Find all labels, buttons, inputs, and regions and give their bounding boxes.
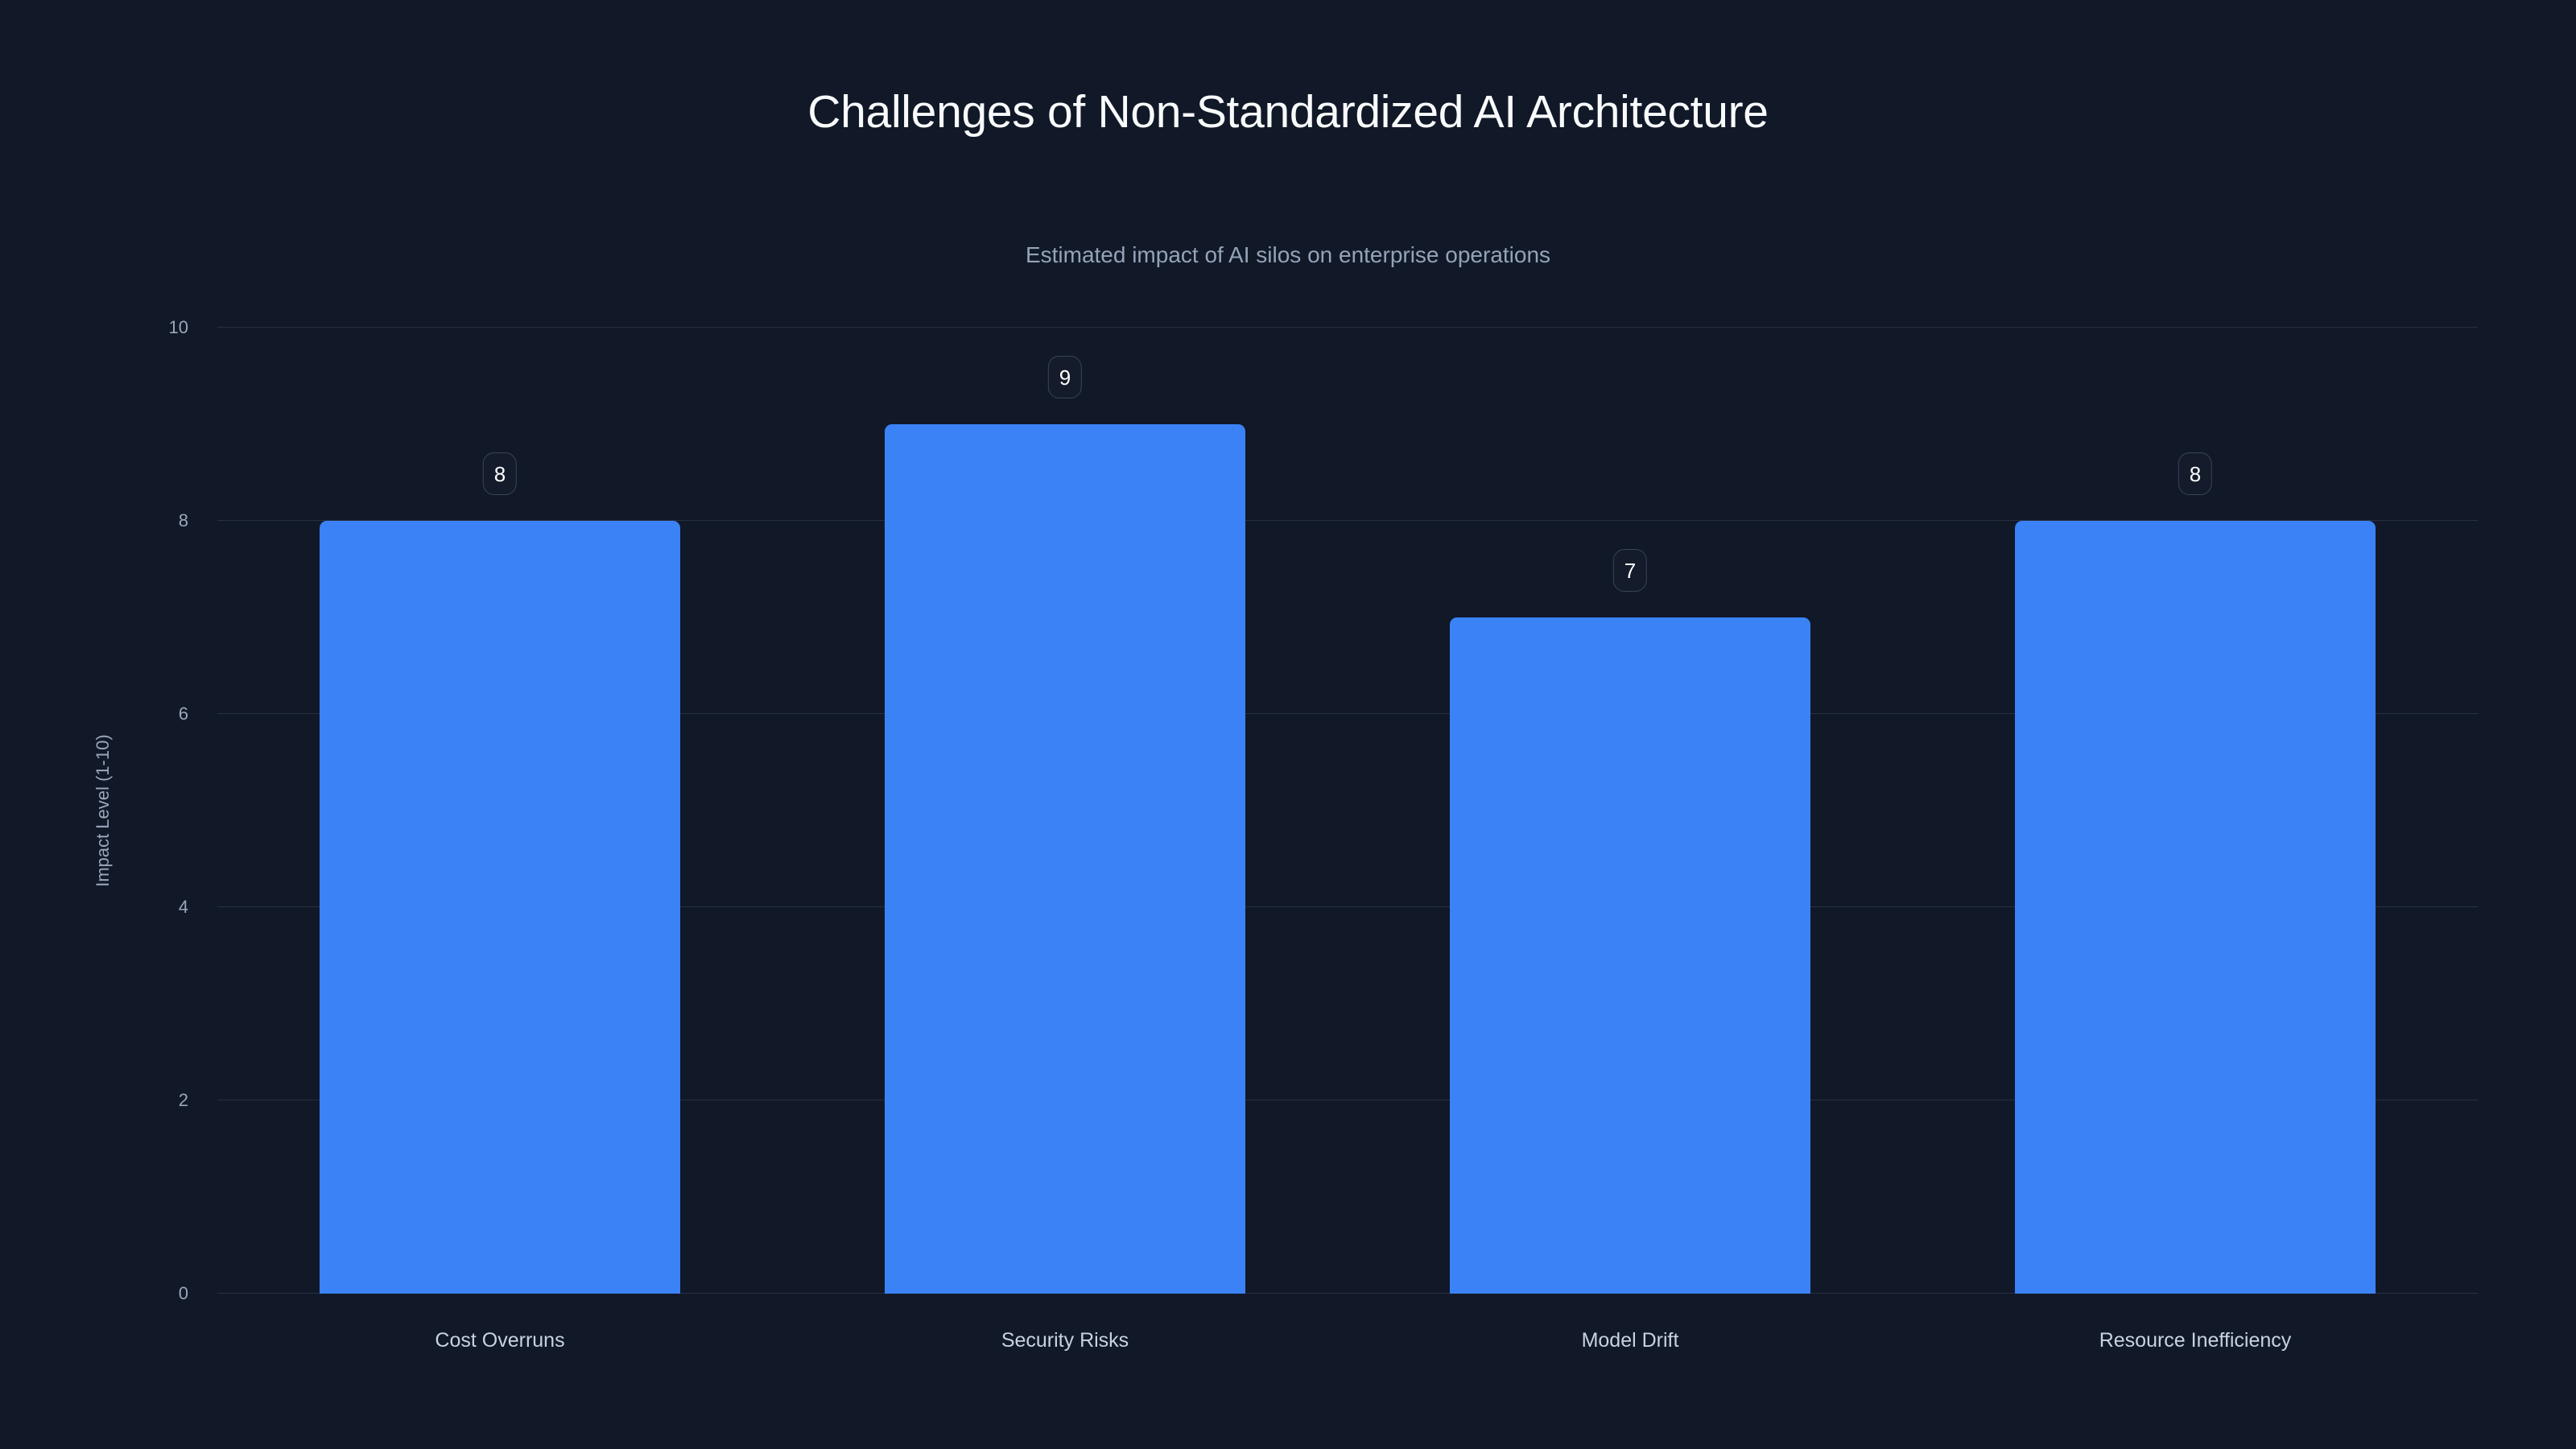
y-axis-tick-label: 6 (179, 705, 188, 723)
bar[interactable] (885, 424, 1245, 1294)
chart-subtitle: Estimated impact of AI silos on enterpri… (0, 242, 2576, 269)
x-axis-category-label: Resource Inefficiency (2099, 1331, 2292, 1351)
y-axis-tick-labels: 0246810 (0, 0, 217, 1449)
y-axis-tick-label: 0 (179, 1285, 188, 1302)
x-axis-category-label: Security Risks (1001, 1331, 1129, 1351)
chart-title: Challenges of Non-Standardized AI Archit… (0, 87, 2576, 138)
x-axis-category-label: Model Drift (1582, 1331, 1679, 1351)
y-axis-tick-label: 2 (179, 1092, 188, 1109)
bar-value-label: 7 (1613, 549, 1647, 592)
y-axis-tick-label: 8 (179, 512, 188, 530)
bar-value-label: 9 (1048, 356, 1082, 398)
x-axis-category-label: Cost Overruns (435, 1331, 564, 1351)
y-axis-tick-label: 4 (179, 898, 188, 916)
bar-value-label: 8 (2178, 452, 2212, 495)
bar[interactable] (320, 521, 680, 1294)
gridline (217, 327, 2478, 328)
bar[interactable] (1450, 617, 1810, 1294)
bar-chart-canvas: Challenges of Non-Standardized AI Archit… (0, 0, 2576, 1449)
y-axis-tick-label: 10 (169, 319, 188, 336)
bar[interactable] (2015, 521, 2376, 1294)
bar-value-label: 8 (483, 452, 517, 495)
plot-area: 8Cost Overruns9Security Risks7Model Drif… (217, 328, 2478, 1294)
